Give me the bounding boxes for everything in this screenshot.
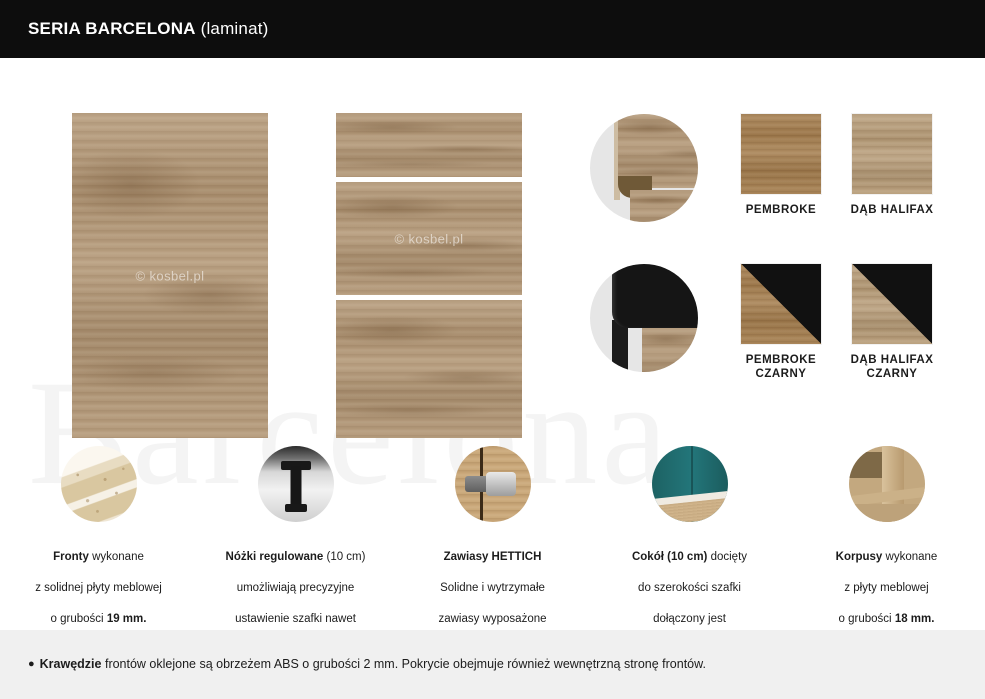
feature-caption: Zawiasy HETTICH Solidne i wytrzymałe zaw… — [400, 534, 585, 630]
page-title-bold: SERIA BARCELONA — [28, 19, 196, 38]
leg-foot — [285, 504, 307, 512]
feature-caption-line3: zawiasy wyposażone — [438, 613, 546, 625]
feature-caption: Korpusy wykonane z płyty meblowej o grub… — [794, 534, 979, 627]
feature-zawiasy: Zawiasy HETTICH Solidne i wytrzymałe zaw… — [394, 446, 591, 630]
feature-caption-line2: umożliwiają precyzyjne — [237, 582, 355, 594]
page-title: SERIA BARCELONA (laminat) — [28, 19, 269, 39]
drawer-front-top — [336, 113, 522, 177]
swatch-dab-halifax-czarny[interactable]: DĄB HALIFAX CZARNY — [842, 264, 942, 381]
feature-nozki: Nóżki regulowane (10 cm) umożliwiają pre… — [197, 446, 394, 630]
handle-detail-wood — [590, 114, 698, 222]
feature-caption-rest: wykonane — [882, 551, 937, 563]
handle-profile-black — [612, 264, 698, 328]
feature-caption-bold: Cokół (10 cm) — [632, 551, 707, 563]
swatch-pembroke[interactable]: PEMBROKE — [731, 114, 831, 217]
panel-face-lower — [642, 326, 698, 372]
front-door-panel: © kosbel.pl — [72, 113, 268, 438]
swatch-black-triangle — [852, 264, 932, 344]
footer-note-bold: Krawędzie — [40, 657, 102, 671]
swatch-black-triangle — [741, 264, 821, 344]
feature-row: Fronty wykonane z solidnej płyty meblowe… — [0, 446, 985, 630]
footer-note: ●Krawędzie frontów oklejone są obrzeżem … — [28, 656, 706, 673]
feature-caption-line3: ustawienie szafki nawet — [235, 613, 356, 625]
feature-caption-line3: dołączony jest — [653, 613, 726, 625]
feature-caption-line3-bold: 18 mm. — [895, 613, 935, 625]
page-header: SERIA BARCELONA (laminat) — [0, 0, 985, 58]
swatch-color-box — [741, 114, 821, 194]
bullet-icon: ● — [28, 658, 35, 670]
feature-caption: Nóżki regulowane (10 cm) umożliwiają pre… — [203, 534, 388, 630]
cabinet-carcass-icon — [849, 446, 925, 522]
hinge-cup — [486, 472, 516, 496]
plinth-icon — [652, 446, 728, 522]
panel-watermark: © kosbel.pl — [72, 268, 268, 283]
feature-caption-line3: o grubości — [839, 613, 895, 625]
drawer-front-bottom — [336, 300, 522, 438]
swatch-dab-halifax[interactable]: DĄB HALIFAX — [842, 114, 942, 217]
feature-cokol: Cokół (10 cm) docięty do szerokości szaf… — [591, 446, 788, 630]
feature-caption-line2: Solidne i wytrzymałe — [440, 582, 545, 594]
chipboard-layers-icon — [61, 446, 137, 522]
swatch-label: PEMBROKE CZARNY — [731, 353, 831, 381]
feature-caption-line2: do szerokości szafki — [638, 582, 741, 594]
feature-caption-rest: docięty — [707, 551, 747, 563]
main-content: Barcelona © kosbel.pl © kosbel.pl PEMBRO… — [0, 58, 985, 630]
swatch-color-box — [741, 264, 821, 344]
handle-detail-black — [590, 264, 698, 372]
feature-caption-line2: z solidnej płyty meblowej — [35, 582, 162, 594]
feature-caption: Cokół (10 cm) docięty do szerokości szaf… — [597, 534, 782, 630]
feature-caption-bold: Zawiasy HETTICH — [444, 551, 542, 563]
footer-note-rest: frontów oklejone są obrzeżem ABS o grubo… — [102, 657, 706, 671]
drawer-front-middle: © kosbel.pl — [336, 182, 522, 295]
swatch-label: DĄB HALIFAX — [842, 203, 942, 217]
feature-caption-line2: z płyty meblowej — [844, 582, 928, 594]
feature-korpusy: Korpusy wykonane z płyty meblowej o grub… — [788, 446, 985, 630]
feature-fronty: Fronty wykonane z solidnej płyty meblowe… — [0, 446, 197, 630]
swatch-label: DĄB HALIFAX CZARNY — [842, 353, 942, 381]
adjustable-leg-icon — [258, 446, 334, 522]
feature-caption-rest: (10 cm) — [323, 551, 365, 563]
feature-caption-line3: o grubości — [51, 613, 107, 625]
footer-bar: ●Krawędzie frontów oklejone są obrzeżem … — [0, 630, 985, 699]
feature-caption: Fronty wykonane z solidnej płyty meblowe… — [6, 534, 191, 627]
leg-stem — [290, 466, 301, 508]
cabinet-hinge-icon — [455, 446, 531, 522]
panel-face-lower — [630, 190, 698, 222]
swatch-label: PEMBROKE — [731, 203, 831, 217]
feature-caption-bold: Korpusy — [836, 551, 883, 563]
drawer-front-stack: © kosbel.pl — [336, 113, 522, 438]
feature-caption-bold: Fronty — [53, 551, 89, 563]
swatch-color-box — [852, 264, 932, 344]
feature-caption-line3-bold: 19 mm. — [107, 613, 147, 625]
page-title-light: (laminat) — [196, 19, 269, 38]
feature-caption-rest: wykonane — [89, 551, 144, 563]
feature-caption-bold: Nóżki regulowane — [226, 551, 324, 563]
swatch-pembroke-czarny[interactable]: PEMBROKE CZARNY — [731, 264, 831, 381]
carcass-bottom — [849, 504, 925, 522]
panel-watermark: © kosbel.pl — [336, 231, 522, 246]
swatch-color-box — [852, 114, 932, 194]
